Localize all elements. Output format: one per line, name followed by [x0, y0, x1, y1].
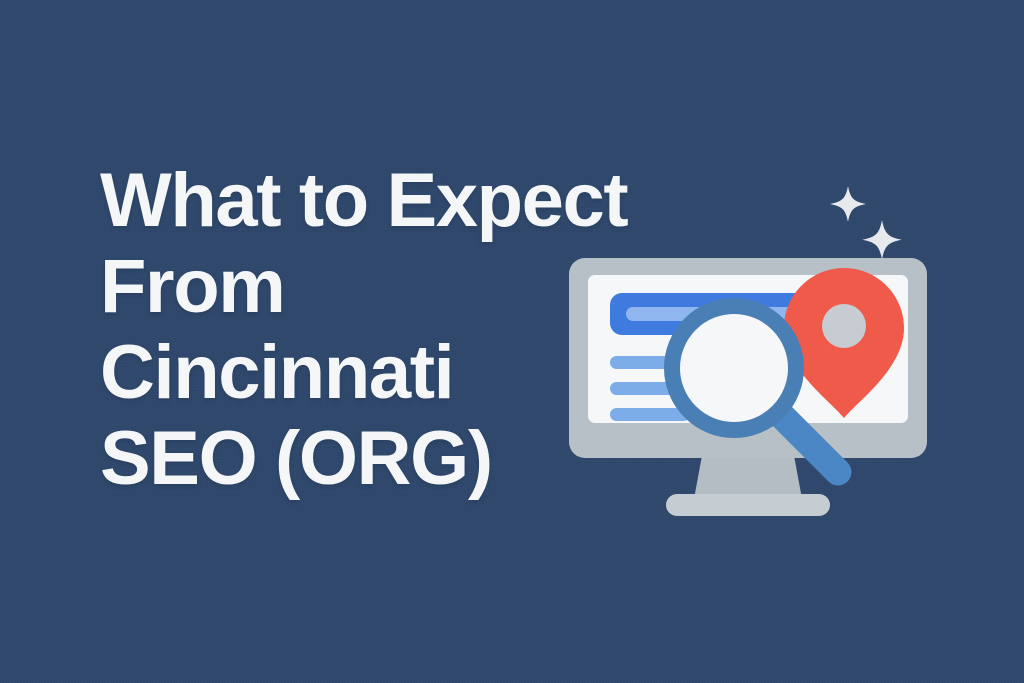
featured-image-canvas: What to Expect From Cincinnati SEO (ORG) [0, 0, 1024, 683]
sparkle-icon-large [830, 186, 866, 222]
headline-line-1: What to Expect [100, 158, 700, 244]
headline-line-4: SEO (ORG) [100, 416, 700, 502]
map-pin-hole [822, 304, 866, 348]
page-title: What to Expect From Cincinnati SEO (ORG) [100, 158, 700, 502]
sparkles-group [830, 186, 902, 259]
sparkle-icon-small [862, 220, 901, 259]
headline-line-2: From [100, 244, 700, 330]
headline-line-3: Cincinnati [100, 330, 700, 416]
